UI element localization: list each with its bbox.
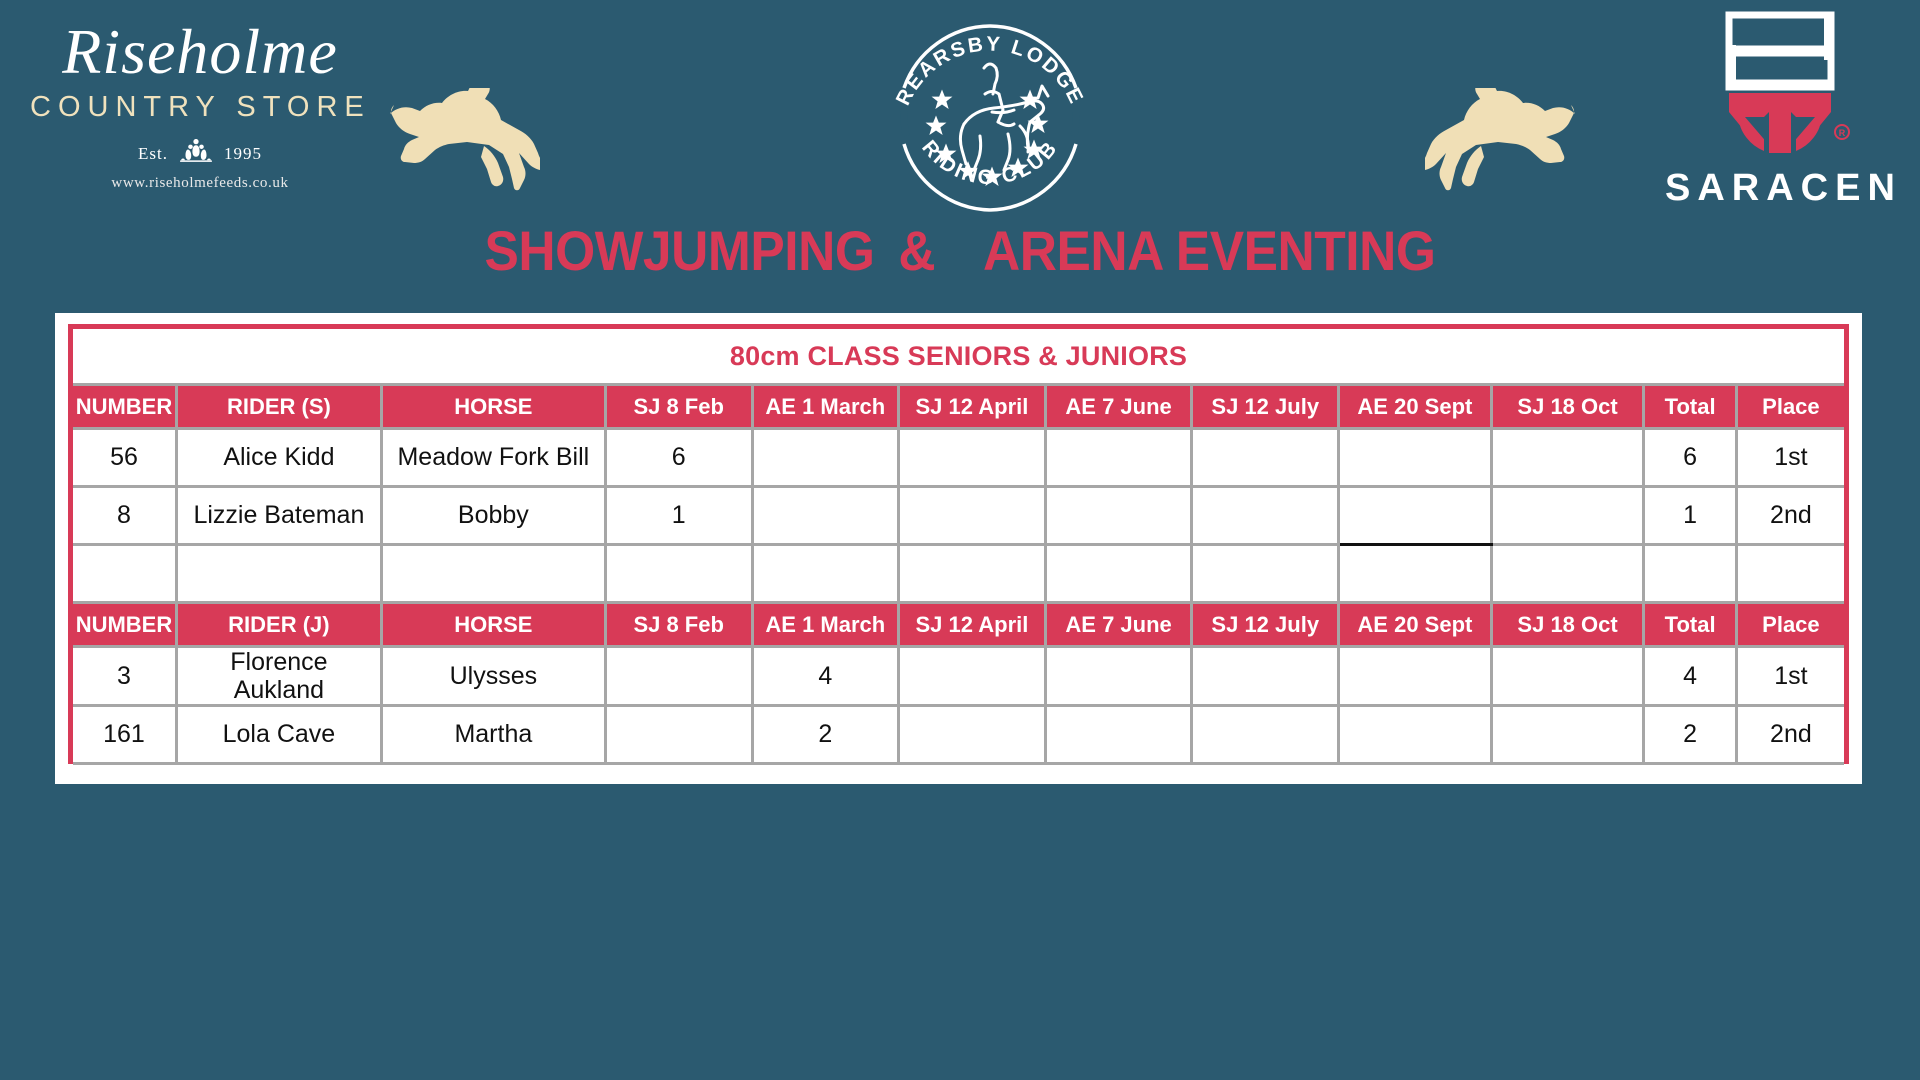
- table-row[interactable]: 56 Alice Kidd Meadow Fork Bill 6 6 1st: [73, 429, 1844, 487]
- class-title-row: 80cm CLASS SENIORS & JUNIORS: [73, 329, 1844, 385]
- cell-ae-20-sept[interactable]: [1339, 545, 1492, 603]
- cell-place[interactable]: [1736, 545, 1844, 603]
- column-header-rider-juniors: RIDER (J): [176, 603, 381, 647]
- cell-total[interactable]: 2: [1644, 706, 1736, 764]
- results-panel: 80cm CLASS SENIORS & JUNIORS NUMBER RIDE…: [55, 313, 1862, 784]
- cell-sj-12-april[interactable]: [899, 429, 1046, 487]
- column-header-ae-20-sept: AE 20 Sept: [1339, 385, 1492, 429]
- page-title-ampersand: &: [874, 219, 959, 282]
- cell-horse[interactable]: Meadow Fork Bill: [381, 429, 605, 487]
- cell-ae-20-sept[interactable]: [1339, 487, 1492, 545]
- cell-rider[interactable]: Lizzie Bateman: [176, 487, 381, 545]
- cell-number[interactable]: [73, 545, 176, 603]
- riseholme-est-label: Est.: [138, 144, 168, 164]
- riseholme-est-year: 1995: [224, 144, 262, 164]
- cell-sj-18-oct[interactable]: [1491, 429, 1644, 487]
- page-title-arena-eventing: ARENA EVENTING: [959, 219, 1435, 282]
- column-header-total: Total: [1644, 603, 1736, 647]
- svg-text:REARSBY LODGE: REARSBY LODGE: [891, 32, 1088, 109]
- cell-place[interactable]: 1st: [1736, 647, 1844, 706]
- cell-ae-7-june[interactable]: [1045, 647, 1192, 706]
- cell-sj-12-april[interactable]: [899, 545, 1046, 603]
- column-header-ae-20-sept: AE 20 Sept: [1339, 603, 1492, 647]
- cell-sj-12-july[interactable]: [1192, 647, 1339, 706]
- cell-rider[interactable]: Alice Kidd: [176, 429, 381, 487]
- cell-rider[interactable]: Florence Aukland: [176, 647, 381, 706]
- cell-place[interactable]: 1st: [1736, 429, 1844, 487]
- sheaf-crest-icon: [176, 138, 216, 169]
- cell-total[interactable]: 1: [1644, 487, 1736, 545]
- column-header-number: NUMBER: [73, 603, 176, 647]
- column-header-place: Place: [1736, 603, 1844, 647]
- column-header-ae-1-march: AE 1 March: [752, 385, 899, 429]
- table-row[interactable]: 3 Florence Aukland Ulysses 4 4 1st: [73, 647, 1844, 706]
- cell-sj-12-april[interactable]: [899, 647, 1046, 706]
- cell-ae-20-sept[interactable]: [1339, 429, 1492, 487]
- cell-ae-7-june[interactable]: [1045, 706, 1192, 764]
- saracen-wordmark: SARACEN: [1665, 167, 1895, 210]
- cell-sj-12-april[interactable]: [899, 706, 1046, 764]
- riseholme-logo: Riseholme COUNTRY STORE Est. 1995 www.: [30, 18, 370, 192]
- cell-ae-1-march[interactable]: 4: [752, 647, 899, 706]
- cell-ae-20-sept[interactable]: [1339, 647, 1492, 706]
- riseholme-script-wordmark: Riseholme: [30, 18, 370, 85]
- cell-rider-line2: Aukland: [178, 676, 380, 704]
- column-header-ae-7-june: AE 7 June: [1045, 603, 1192, 647]
- cell-ae-7-june[interactable]: [1045, 545, 1192, 603]
- rearsby-top-arc-text: REARSBY LODGE: [891, 32, 1088, 109]
- saracen-logo: R SARACEN: [1665, 5, 1895, 210]
- column-header-horse: HORSE: [381, 603, 605, 647]
- cell-sj-8-feb[interactable]: [605, 647, 752, 706]
- column-header-sj-12-april: SJ 12 April: [899, 385, 1046, 429]
- results-panel-border: 80cm CLASS SENIORS & JUNIORS NUMBER RIDE…: [68, 324, 1849, 764]
- cell-ae-1-march[interactable]: [752, 545, 899, 603]
- column-header-sj-8-feb: SJ 8 Feb: [605, 603, 752, 647]
- cell-sj-8-feb[interactable]: 6: [605, 429, 752, 487]
- column-header-sj-18-oct: SJ 18 Oct: [1491, 603, 1644, 647]
- cell-sj-18-oct[interactable]: [1491, 545, 1644, 603]
- cell-place[interactable]: 2nd: [1736, 487, 1844, 545]
- jumping-horse-silhouette-left: [380, 88, 540, 208]
- cell-number[interactable]: 161: [73, 706, 176, 764]
- cell-sj-18-oct[interactable]: [1491, 647, 1644, 706]
- column-header-sj-8-feb: SJ 8 Feb: [605, 385, 752, 429]
- cell-total[interactable]: [1644, 545, 1736, 603]
- horse-and-rider-roundel-icon: REARSBY LODGE RIDING CLUB: [880, 8, 1100, 218]
- registered-trademark-mark: R: [1839, 128, 1846, 138]
- column-header-horse: HORSE: [381, 385, 605, 429]
- cell-sj-12-july[interactable]: [1192, 487, 1339, 545]
- table-row[interactable]: 8 Lizzie Bateman Bobby 1 1 2nd: [73, 487, 1844, 545]
- cell-sj-12-july[interactable]: [1192, 429, 1339, 487]
- cell-sj-8-feb[interactable]: [605, 545, 752, 603]
- cell-number[interactable]: 8: [73, 487, 176, 545]
- cell-rider[interactable]: Lola Cave: [176, 706, 381, 764]
- rearsby-lodge-riding-club-logo: REARSBY LODGE RIDING CLUB: [880, 8, 1100, 218]
- cell-ae-7-june[interactable]: [1045, 429, 1192, 487]
- column-header-number: NUMBER: [73, 385, 176, 429]
- cell-sj-8-feb[interactable]: 1: [605, 487, 752, 545]
- jumping-horse-silhouette-right: [1425, 88, 1585, 208]
- cell-sj-12-july[interactable]: [1192, 545, 1339, 603]
- cell-ae-1-march[interactable]: [752, 429, 899, 487]
- page-title: SHOWJUMPING&ARENA EVENTING: [77, 218, 1843, 283]
- column-header-sj-12-july: SJ 12 July: [1192, 603, 1339, 647]
- cell-ae-7-june[interactable]: [1045, 487, 1192, 545]
- riseholme-website-url: www.riseholmefeeds.co.uk: [30, 175, 370, 192]
- column-header-ae-7-june: AE 7 June: [1045, 385, 1192, 429]
- cell-sj-12-july[interactable]: [1192, 706, 1339, 764]
- juniors-header-row: NUMBER RIDER (J) HORSE SJ 8 Feb AE 1 Mar…: [73, 603, 1844, 647]
- cell-sj-8-feb[interactable]: [605, 706, 752, 764]
- cell-number[interactable]: 3: [73, 647, 176, 706]
- page-title-showjumping: SHOWJUMPING: [485, 219, 875, 282]
- table-row[interactable]: [73, 545, 1844, 603]
- cell-horse[interactable]: Martha: [381, 706, 605, 764]
- seniors-header-row: NUMBER RIDER (S) HORSE SJ 8 Feb AE 1 Mar…: [73, 385, 1844, 429]
- cell-number[interactable]: 56: [73, 429, 176, 487]
- column-header-sj-18-oct: SJ 18 Oct: [1491, 385, 1644, 429]
- cell-place[interactable]: 2nd: [1736, 706, 1844, 764]
- cell-total[interactable]: 6: [1644, 429, 1736, 487]
- cell-horse[interactable]: Bobby: [381, 487, 605, 545]
- column-header-total: Total: [1644, 385, 1736, 429]
- cell-sj-12-april[interactable]: [899, 487, 1046, 545]
- cell-sj-18-oct[interactable]: [1491, 487, 1644, 545]
- column-header-rider-seniors: RIDER (S): [176, 385, 381, 429]
- table-row[interactable]: 161 Lola Cave Martha 2 2 2nd: [73, 706, 1844, 764]
- riseholme-subtitle: COUNTRY STORE: [30, 91, 370, 124]
- cell-sj-18-oct[interactable]: [1491, 706, 1644, 764]
- header-banner: Riseholme COUNTRY STORE Est. 1995 www.: [0, 0, 1920, 300]
- cell-rider-line1: Florence: [178, 648, 380, 676]
- results-table: 80cm CLASS SENIORS & JUNIORS NUMBER RIDE…: [73, 329, 1844, 765]
- saracen-s-union-jack-icon: R: [1700, 5, 1860, 163]
- cell-horse[interactable]: [381, 545, 605, 603]
- column-header-place: Place: [1736, 385, 1844, 429]
- cell-horse[interactable]: Ulysses: [381, 647, 605, 706]
- cell-ae-1-march[interactable]: 2: [752, 706, 899, 764]
- column-header-sj-12-april: SJ 12 April: [899, 603, 1046, 647]
- class-title: 80cm CLASS SENIORS & JUNIORS: [73, 329, 1844, 385]
- cell-ae-20-sept[interactable]: [1339, 706, 1492, 764]
- cell-rider[interactable]: [176, 545, 381, 603]
- riseholme-established: Est. 1995: [30, 138, 370, 169]
- cell-ae-1-march[interactable]: [752, 487, 899, 545]
- column-header-ae-1-march: AE 1 March: [752, 603, 899, 647]
- cell-total[interactable]: 4: [1644, 647, 1736, 706]
- column-header-sj-12-july: SJ 12 July: [1192, 385, 1339, 429]
